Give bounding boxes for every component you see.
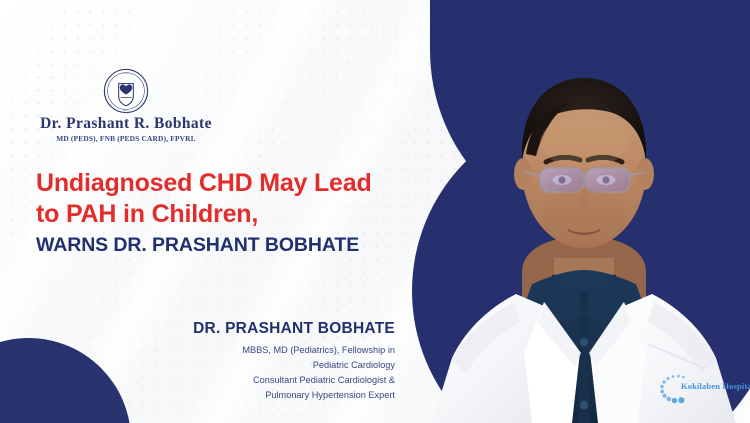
credential-line: Consultant Pediatric Cardiologist &	[60, 373, 395, 388]
hospital-logo-text: Kokilaben Hospital	[681, 381, 750, 391]
credential-line: Pediatric Cardiology	[60, 358, 395, 373]
brand-name: Dr. Prashant R. Bobhate	[26, 116, 226, 132]
headline-line-1: Undiagnosed CHD May Lead	[36, 168, 426, 199]
doctor-credentials: MBBS, MD (Pediatrics), Fellowship in Ped…	[60, 343, 395, 403]
doctor-name: DR. PRASHANT BOBHATE	[60, 320, 395, 338]
headline-subline: WARNS DR. PRASHANT BOBHATE	[36, 234, 426, 257]
svg-text:• • •: • • •	[124, 71, 129, 75]
brand-lockup: • • • • • • Dr. Prashant R. Bobhate MD (…	[26, 68, 226, 143]
crest-emblem-icon: • • • • • •	[103, 68, 149, 114]
credential-line: MBBS, MD (Pediatrics), Fellowship in	[60, 343, 395, 358]
doctor-namecard: DR. PRASHANT BOBHATE MBBS, MD (Pediatric…	[60, 320, 395, 403]
headline-line-2: to PAH in Children,	[36, 199, 426, 230]
hospital-logo: Kokilaben Hospital	[657, 372, 743, 406]
promo-banner: • • • • • • Dr. Prashant R. Bobhate MD (…	[0, 0, 750, 423]
headline-block: Undiagnosed CHD May Lead to PAH in Child…	[36, 168, 426, 257]
doctor-portrait	[404, 22, 750, 423]
brand-credentials: MD (PEDS), FNB (PEDS CARD), FPVRI.	[26, 134, 226, 143]
svg-text:• • •: • • •	[124, 109, 129, 113]
credential-line: Pulmonary Hypertension Expert	[60, 388, 395, 403]
